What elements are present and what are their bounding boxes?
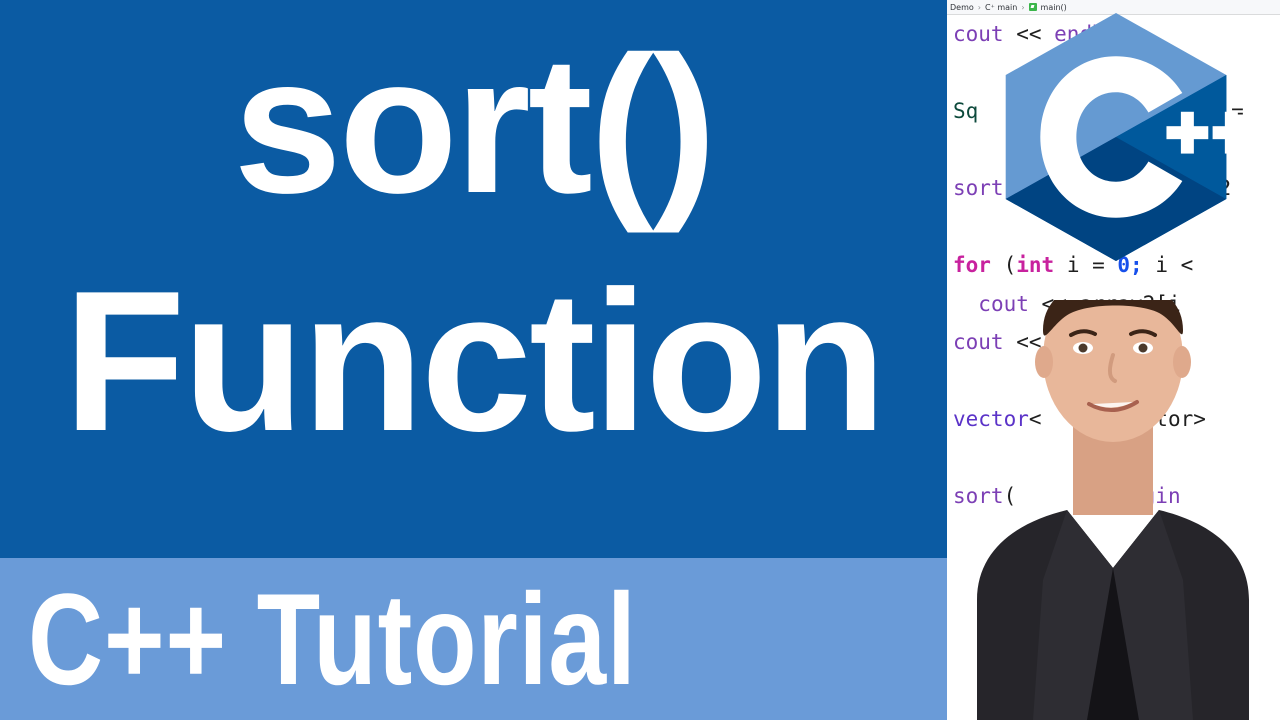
line-cout-array2-token-2: << [1029, 292, 1080, 316]
title-panel: sort() Function [0, 0, 947, 558]
breadcrumb-item-demo[interactable]: Demo [950, 3, 974, 12]
line-for-token-0: for [953, 253, 991, 277]
line-cout-2-token-0: cout [953, 330, 1004, 354]
breadcrumb-separator-icon: › [1021, 3, 1024, 12]
line-cout-array2[interactable]: cout << array2[i [953, 285, 1280, 324]
breadcrumb-item-main-method[interactable]: main() [1041, 3, 1067, 12]
line-sort-begin-token-0: sort [953, 484, 1004, 508]
line-vector-token-1: < [1029, 407, 1118, 431]
line-vector-token-2: vector> [1117, 407, 1206, 431]
line-cout-array2-token-1: cout [978, 292, 1029, 316]
line-cout-2[interactable]: cout << [953, 323, 1280, 362]
line-sort-begin[interactable]: sort( begin [953, 477, 1280, 516]
breadcrumb-item-main-file[interactable]: C⁺ main [985, 3, 1017, 12]
thumbnail-canvas: sort() Function C++ Tutorial Demo › C⁺ m… [0, 0, 1280, 720]
line-vector-token-0: vector [953, 407, 1029, 431]
line-blank-5[interactable] [953, 439, 1280, 478]
line-cout-2-token-1: << [1004, 330, 1042, 354]
line-sq-token-0: Sq [953, 99, 978, 123]
line-sort-begin-token-1: ( [1004, 484, 1118, 508]
line-sort-begin-token-2: begin [1117, 484, 1180, 508]
cpp-logo [992, 13, 1240, 261]
line-cout-array2-token-0 [953, 292, 978, 316]
page-title-primary: sort() [0, 28, 947, 223]
line-blank-4[interactable] [953, 362, 1280, 401]
subtitle-banner: C++ Tutorial [0, 558, 947, 720]
line-cout-array2-token-3: array2[i [1079, 292, 1180, 316]
subtitle-label: C++ Tutorial [28, 564, 637, 714]
page-title-secondary: Function [0, 262, 947, 462]
breadcrumb-separator-icon: › [978, 3, 981, 12]
line-vector[interactable]: vector< vector> [953, 400, 1280, 439]
method-icon [1029, 3, 1037, 11]
